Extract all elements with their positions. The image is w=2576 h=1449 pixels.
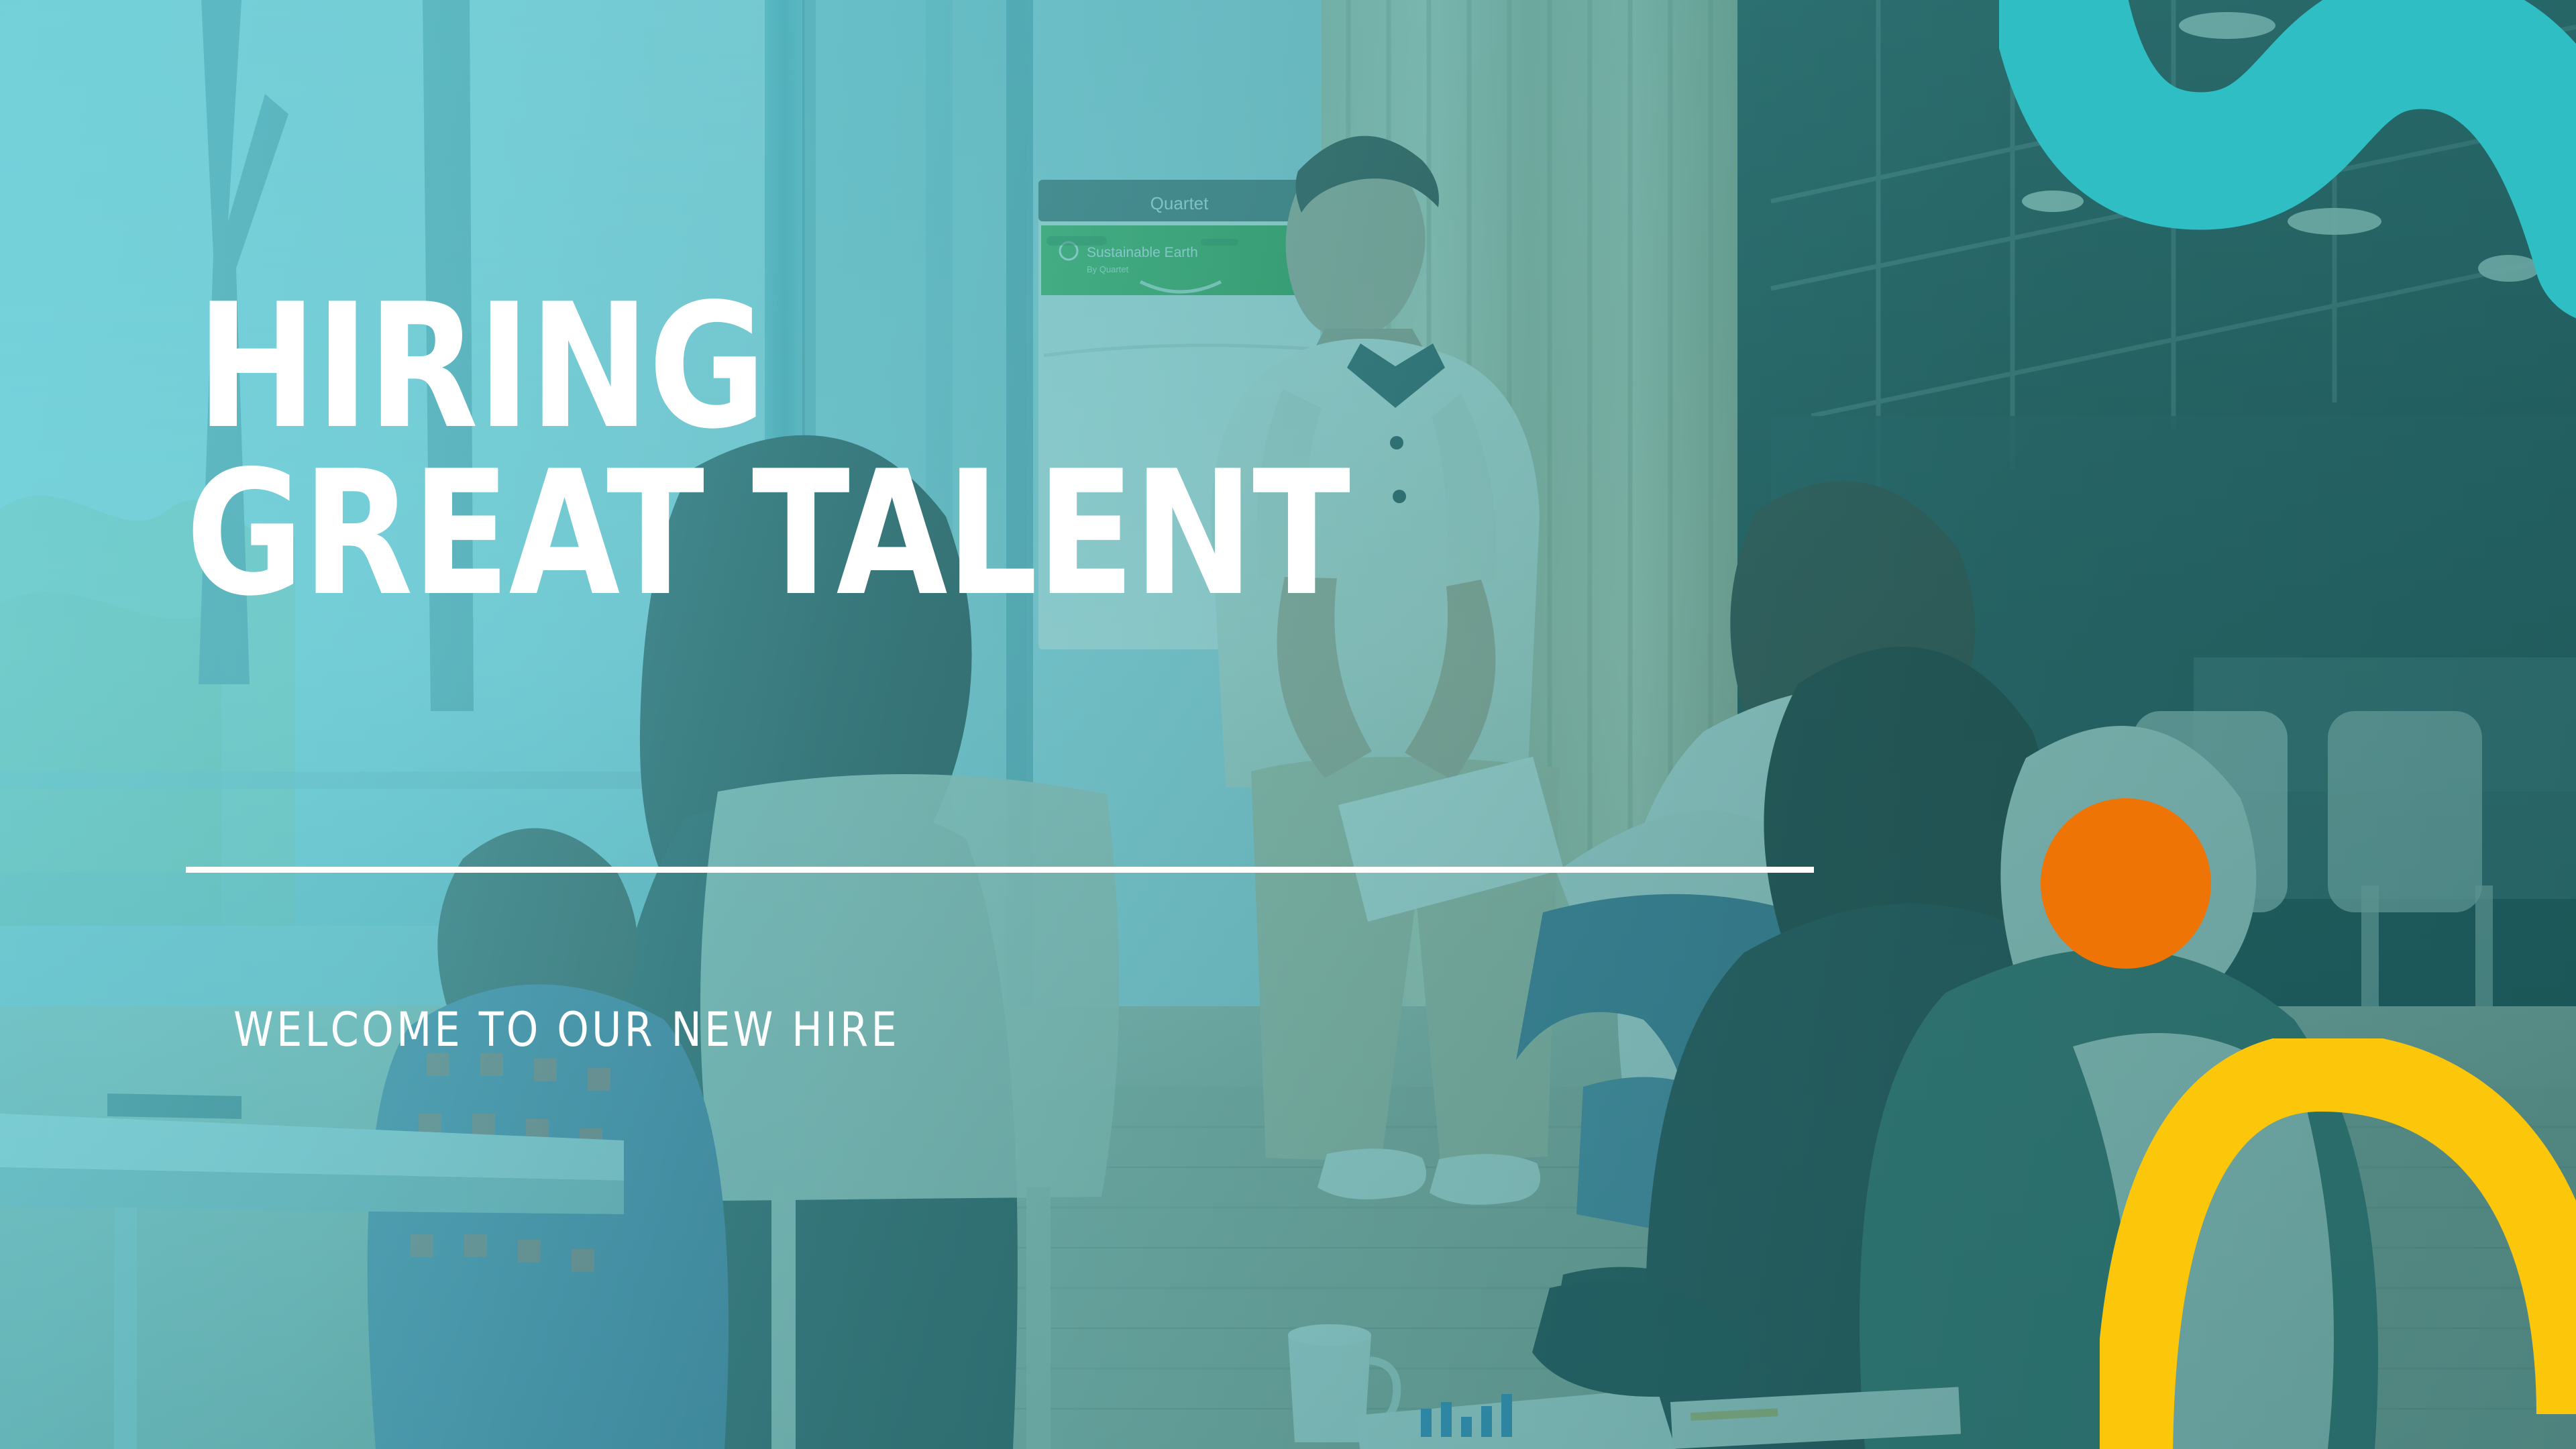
- duotone-overlay-secondary: [0, 0, 2576, 1449]
- hiring-banner: Quartet Sustainable Earth By Quartet: [0, 0, 2576, 1449]
- headline-line-1: HIRING: [197, 295, 1771, 439]
- headline-block: HIRING GREAT TALENT: [186, 295, 1890, 606]
- headline-divider-rule: [186, 867, 1814, 873]
- headline-line-2: GREAT TALENT: [186, 462, 1770, 606]
- subtitle-text: WELCOME TO OUR NEW HIRE: [233, 1002, 900, 1057]
